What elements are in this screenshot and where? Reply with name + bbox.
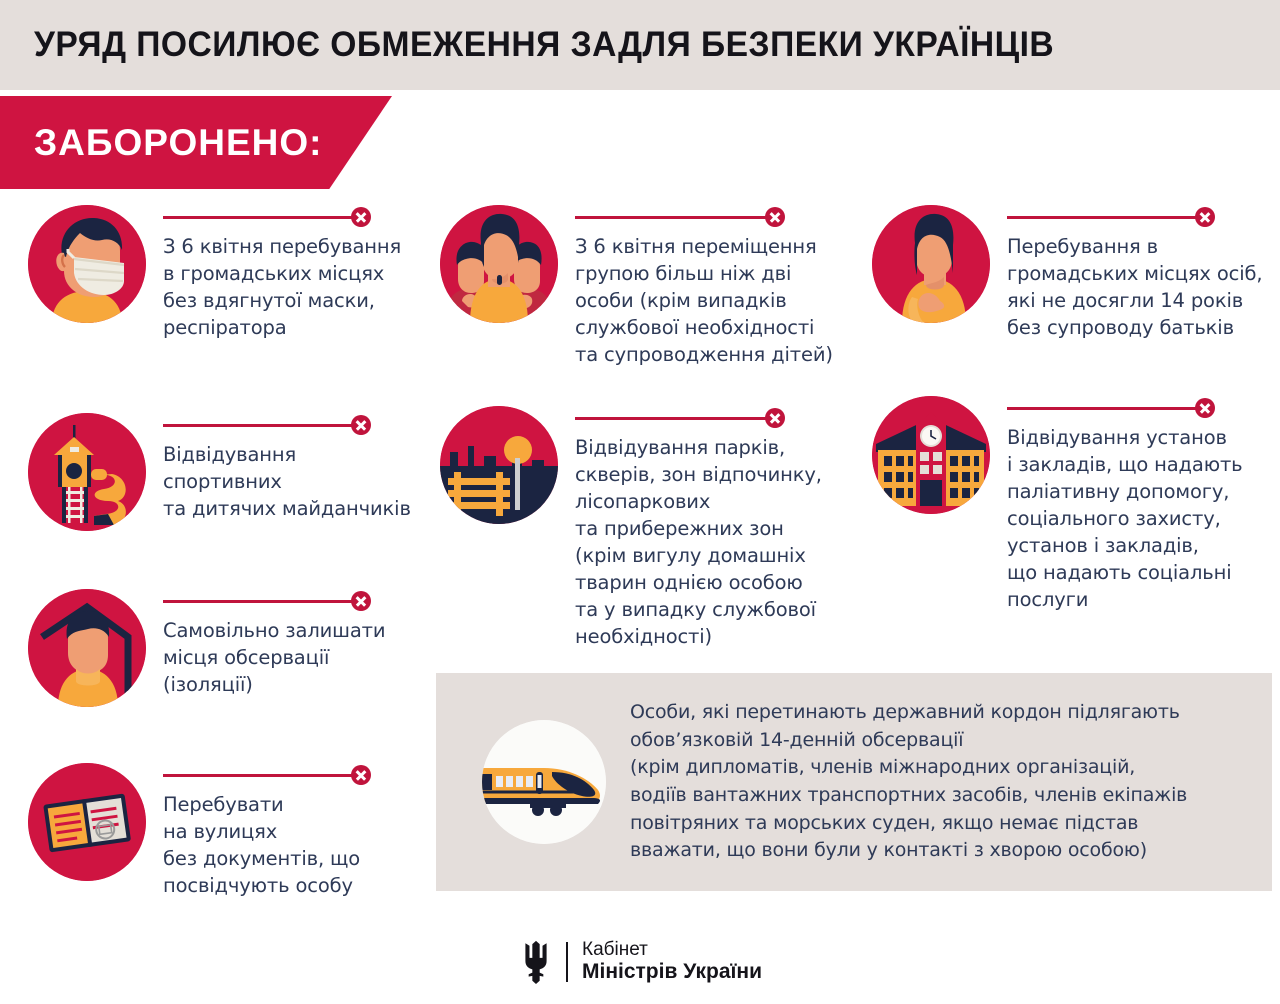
column-3: Перебування в громадських місцях осіб, я…: [872, 205, 1272, 613]
ukraine-trident-icon: [518, 940, 554, 984]
footer-line-2: Міністрів України: [582, 961, 762, 984]
group-of-people-icon: [440, 205, 558, 323]
list-item-label: Відвідування установ і закладів, що нада…: [1007, 424, 1272, 613]
list-item-label: Відвідування спортивних та дитячих майда…: [163, 441, 438, 522]
park-bench-icon: [440, 406, 558, 524]
footer: Кабінет Міністрів України: [0, 920, 1280, 1004]
list-item: Перебувати на вулицях без документів, що…: [28, 763, 438, 899]
masked-person-icon: [28, 205, 146, 323]
panel-label: Особи, які перетинають державний кордон …: [630, 699, 1187, 865]
footer-line-1: Кабінет: [582, 940, 762, 961]
banner-label: ЗАБОРОНЕНО:: [34, 122, 322, 164]
close-icon: [765, 207, 785, 227]
header-bar: УРЯД ПОСИЛЮЄ ОБМЕЖЕННЯ ЗАДЛЯ БЕЗПЕКИ УКР…: [0, 0, 1280, 90]
prohibition-rule: [163, 415, 438, 435]
playground-icon: [28, 413, 146, 531]
prohibition-rule: [1007, 398, 1272, 418]
list-item-label: Перебувати на вулицях без документів, що…: [163, 791, 438, 899]
close-icon: [1195, 398, 1215, 418]
column-1: З 6 квітня перебування в громадських міс…: [28, 205, 438, 899]
prohibited-banner: ЗАБОРОНЕНО:: [0, 96, 392, 189]
border-crossing-panel: Особи, які перетинають державний кордон …: [436, 673, 1272, 891]
list-item: Відвідування установ і закладів, що нада…: [872, 396, 1272, 613]
list-item-label: Самовільно залишати місця обсервації (із…: [163, 617, 438, 698]
prohibition-rule: [575, 408, 860, 428]
list-item: Перебування в громадських місцях осіб, я…: [872, 205, 1272, 341]
close-icon: [351, 207, 371, 227]
page-title: УРЯД ПОСИЛЮЄ ОБМЕЖЕННЯ ЗАДЛЯ БЕЗПЕКИ УКР…: [34, 25, 1054, 65]
list-item-body: З 6 квітня перебування в громадських міс…: [163, 205, 438, 341]
list-item-body: Самовільно залишати місця обсервації (із…: [163, 589, 438, 698]
list-item: Відвідування парків, скверів, зон відпоч…: [440, 406, 860, 650]
prohibition-rule: [163, 765, 438, 785]
close-icon: [1195, 207, 1215, 227]
list-item-body: Відвідування установ і закладів, що нада…: [1007, 396, 1272, 613]
list-item-label: Перебування в громадських місцях осіб, я…: [1007, 233, 1272, 341]
column-2: З 6 квітня переміщення групою більш ніж …: [440, 205, 860, 650]
close-icon: [351, 415, 371, 435]
list-item-label: З 6 квітня переміщення групою більш ніж …: [575, 233, 860, 368]
list-item-label: Відвідування парків, скверів, зон відпоч…: [575, 434, 860, 650]
passport-document-icon: [28, 763, 146, 881]
list-item-body: Відвідування спортивних та дитячих майда…: [163, 413, 438, 522]
prohibition-rule: [1007, 207, 1272, 227]
prohibition-rule: [575, 207, 860, 227]
list-item-body: Відвідування парків, скверів, зон відпоч…: [575, 406, 860, 650]
list-item: Відвідування спортивних та дитячих майда…: [28, 413, 438, 531]
person-at-home-icon: [28, 589, 146, 707]
child-person-icon: [872, 205, 990, 323]
list-item-label: З 6 квітня перебування в громадських міс…: [163, 233, 438, 341]
list-item: З 6 квітня перебування в громадських міс…: [28, 205, 438, 341]
list-item-body: Перебувати на вулицях без документів, що…: [163, 763, 438, 899]
list-item-body: З 6 квітня переміщення групою більш ніж …: [575, 205, 860, 368]
institution-building-icon: [872, 396, 990, 514]
list-item-body: Перебування в громадських місцях осіб, я…: [1007, 205, 1272, 341]
list-item: Самовільно залишати місця обсервації (із…: [28, 589, 438, 707]
prohibition-rule: [163, 207, 438, 227]
close-icon: [351, 765, 371, 785]
list-item: З 6 квітня переміщення групою більш ніж …: [440, 205, 860, 368]
footer-divider: [566, 942, 568, 982]
prohibition-rule: [163, 591, 438, 611]
train-icon: [482, 720, 606, 844]
close-icon: [351, 591, 371, 611]
close-icon: [765, 408, 785, 428]
